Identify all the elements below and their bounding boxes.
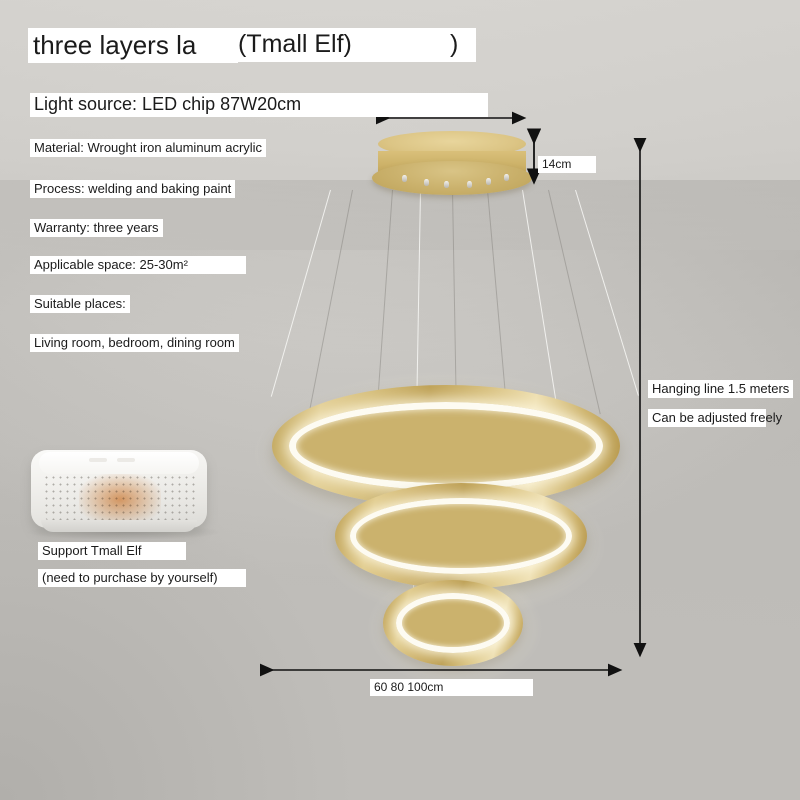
speaker-caption-line2: (need to purchase by yourself) xyxy=(38,569,246,587)
spec-warranty: Warranty: three years xyxy=(30,219,163,237)
product-title-primary: three layers la xyxy=(28,28,238,63)
ring-diameter-label: 60 80 100cm xyxy=(370,679,533,696)
hanging-line-label-2: Can be adjusted freely xyxy=(648,409,766,427)
spec-light-source: Light source: LED chip 87W20cm xyxy=(30,93,488,117)
product-image-canvas: three layers la (Tmall Elf) ) Light sour… xyxy=(0,0,800,800)
product-title-trailing-paren: ) xyxy=(444,28,476,62)
spec-applicable-space: Applicable space: 25-30m² xyxy=(30,256,246,274)
spec-suitable-places: Suitable places: xyxy=(30,295,130,313)
canopy-height-label: 14cm xyxy=(538,156,596,173)
speaker-caption-line1: Support Tmall Elf xyxy=(38,542,186,560)
product-title-tmall-elf: (Tmall Elf) xyxy=(232,28,472,62)
spec-rooms: Living room, bedroom, dining room xyxy=(30,334,239,352)
spec-process: Process: welding and baking paint xyxy=(30,180,235,198)
spec-material: Material: Wrought iron aluminum acrylic xyxy=(30,139,266,157)
hanging-line-label-1: Hanging line 1.5 meters xyxy=(648,380,793,398)
